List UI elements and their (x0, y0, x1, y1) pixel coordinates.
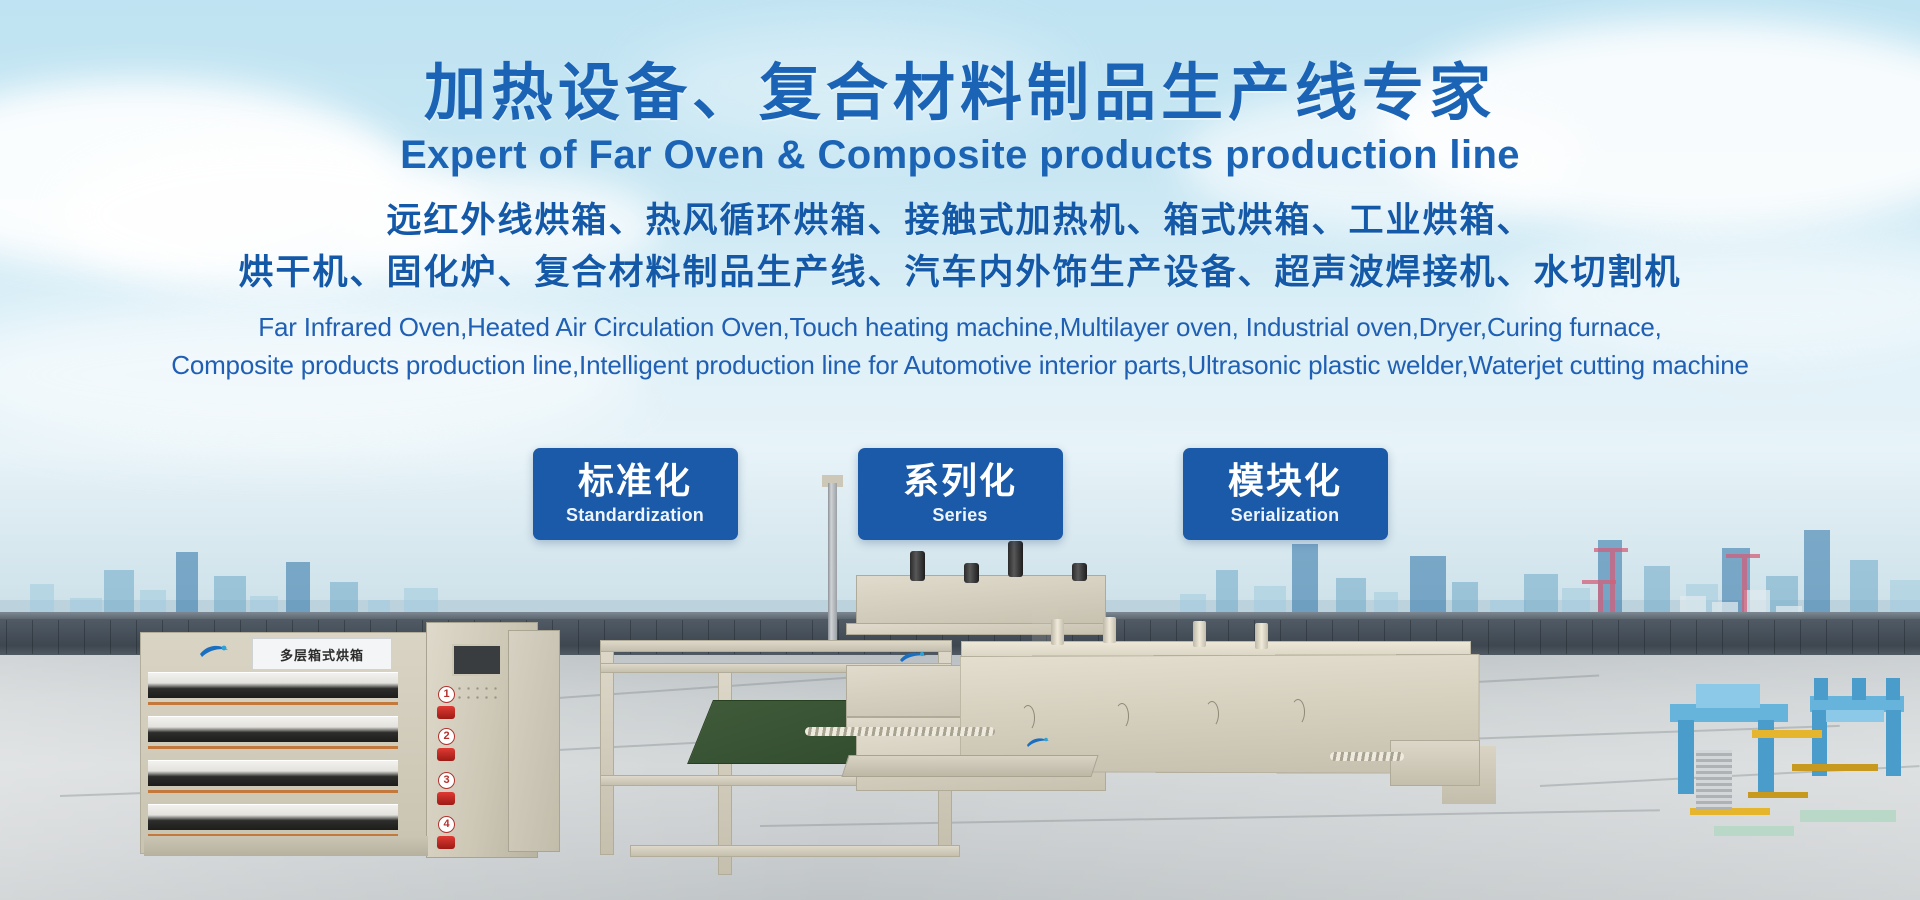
press-frame-leg (718, 663, 732, 875)
product-list-english-line-1: Far Infrared Oven,Heated Air Circulation… (0, 309, 1920, 347)
badge-label-cn: 系列化 (888, 462, 1033, 502)
crane-arm (1582, 580, 1616, 584)
wall-joint (32, 620, 33, 654)
oven-nameplate: 多层箱式烘箱 (252, 638, 392, 670)
wall-joint (1696, 620, 1697, 654)
brand-logo-icon (898, 649, 928, 665)
green-pallet (1714, 826, 1794, 836)
press-hydraulic-post (1008, 541, 1023, 577)
oven-dial-number-2: 2 (438, 728, 455, 745)
feature-badges: 标准化 Standardization 系列化 Series 模块化 Seria… (0, 448, 1920, 540)
tunnel-oven-screw-feeder (805, 727, 995, 736)
oven-dial-number-1: 1 (438, 686, 455, 703)
tunnel-oven-hatch (1115, 703, 1129, 729)
wall-joint (110, 620, 111, 654)
wall-joint (1878, 620, 1879, 654)
wall-joint (136, 620, 137, 654)
oven-base (144, 836, 428, 856)
blue-press-top-block (1696, 684, 1760, 708)
oven-shelf (148, 672, 398, 698)
brand-logo-icon (1025, 735, 1051, 749)
wall-joint (1826, 620, 1827, 654)
wall-joint (1488, 620, 1489, 654)
oven-shelf (148, 760, 398, 786)
blue-press-column (1678, 720, 1694, 794)
blue-press-cluster (1500, 660, 1920, 870)
wire-rack (1696, 750, 1732, 810)
wall-joint (1748, 620, 1749, 654)
wall-joint (84, 620, 85, 654)
crane-arm (1594, 548, 1628, 552)
oven-dial-2[interactable] (437, 748, 455, 761)
product-list-chinese-line-1: 远红外线烘箱、热风循环烘箱、接触式加热机、箱式烘箱、工业烘箱、 (0, 197, 1920, 247)
oven-rail (148, 746, 398, 749)
oven-rail (148, 702, 398, 705)
wall-joint (1514, 620, 1515, 654)
blue-frame-post (1814, 678, 1828, 700)
badge-label-cn: 标准化 (563, 462, 708, 502)
yellow-robot-arm (1748, 792, 1808, 798)
badge-label-en: Series (888, 505, 1033, 526)
oven-rear-cabinet (508, 630, 560, 852)
press-hydraulic-post (1072, 563, 1087, 581)
tunnel-oven-infeed-conveyor (841, 755, 1098, 777)
press-platen-edge (846, 623, 1106, 635)
wall-joint (1592, 620, 1593, 654)
tunnel-oven-hatch (1205, 701, 1219, 727)
wall-joint (1722, 620, 1723, 654)
screw-conveyor (1330, 752, 1404, 761)
blue-frame-post (1852, 678, 1866, 700)
wall-joint (1670, 620, 1671, 654)
oven-nameplate-text: 多层箱式烘箱 (280, 645, 364, 664)
banner-text-block: 加热设备、复合材料制品生产线专家 Expert of Far Oven & Co… (0, 58, 1920, 384)
wall-joint (6, 620, 7, 654)
wall-joint (1566, 620, 1567, 654)
oven-display-screen (452, 644, 502, 676)
badge-label-cn: 模块化 (1213, 462, 1358, 502)
oven-dial-number-3: 3 (438, 772, 455, 789)
badge-serialization[interactable]: 模块化 Serialization (1183, 448, 1388, 540)
transfer-unit (1390, 740, 1480, 786)
wall-joint (1904, 620, 1905, 654)
press-hydraulic-post (964, 563, 979, 583)
multilayer-oven-machine: 多层箱式烘箱 1 2 3 4 (140, 622, 540, 872)
oven-dial-number-4: 4 (438, 816, 455, 833)
tunnel-oven-stack (1103, 617, 1116, 643)
wall-joint (58, 620, 59, 654)
blue-frame-post (1886, 678, 1900, 700)
tunnel-oven-stack (1255, 623, 1268, 649)
green-pallet (1800, 810, 1896, 822)
tunnel-oven-stack (1051, 619, 1064, 645)
wall-joint (1540, 620, 1541, 654)
yellow-conveyor-rail (1792, 764, 1878, 771)
tunnel-oven-hatch (1291, 699, 1305, 725)
yellow-conveyor-rail (1752, 730, 1822, 738)
wall-joint (1852, 620, 1853, 654)
oven-shelf (148, 716, 398, 742)
oven-dial-1[interactable] (437, 706, 455, 719)
tunnel-oven-hatch (1021, 705, 1035, 731)
oven-vent-dots (455, 684, 499, 702)
wall-joint (1644, 620, 1645, 654)
headline-english: Expert of Far Oven & Composite products … (0, 131, 1920, 179)
badge-standardization[interactable]: 标准化 Standardization (533, 448, 738, 540)
brand-logo-icon (198, 642, 230, 660)
oven-shelf (148, 804, 398, 830)
product-list-english-line-2: Composite products production line,Intel… (0, 347, 1920, 385)
crane-arm (1726, 554, 1760, 558)
product-list-chinese-line-2: 烘干机、固化炉、复合材料制品生产线、汽车内外饰生产设备、超声波焊接机、水切割机 (0, 249, 1920, 299)
badge-label-en: Standardization (563, 505, 708, 526)
press-hydraulic-post (910, 551, 925, 581)
oven-dial-3[interactable] (437, 792, 455, 805)
wall-joint (1774, 620, 1775, 654)
press-upper-platen (856, 575, 1106, 625)
oven-dial-4[interactable] (437, 836, 455, 849)
blue-frame-leg (1886, 710, 1901, 776)
wall-joint (578, 620, 579, 654)
badge-series[interactable]: 系列化 Series (858, 448, 1063, 540)
blue-frame-plate (1826, 710, 1884, 722)
wall-joint (1618, 620, 1619, 654)
tunnel-oven-stack (1193, 621, 1206, 647)
press-frame-rail (630, 845, 960, 857)
oven-rail (148, 790, 398, 793)
hero-banner: 加热设备、复合材料制品生产线专家 Expert of Far Oven & Co… (0, 0, 1920, 900)
headline-chinese: 加热设备、复合材料制品生产线专家 (0, 58, 1920, 127)
wall-joint (1800, 620, 1801, 654)
badge-label-en: Serialization (1213, 505, 1358, 526)
